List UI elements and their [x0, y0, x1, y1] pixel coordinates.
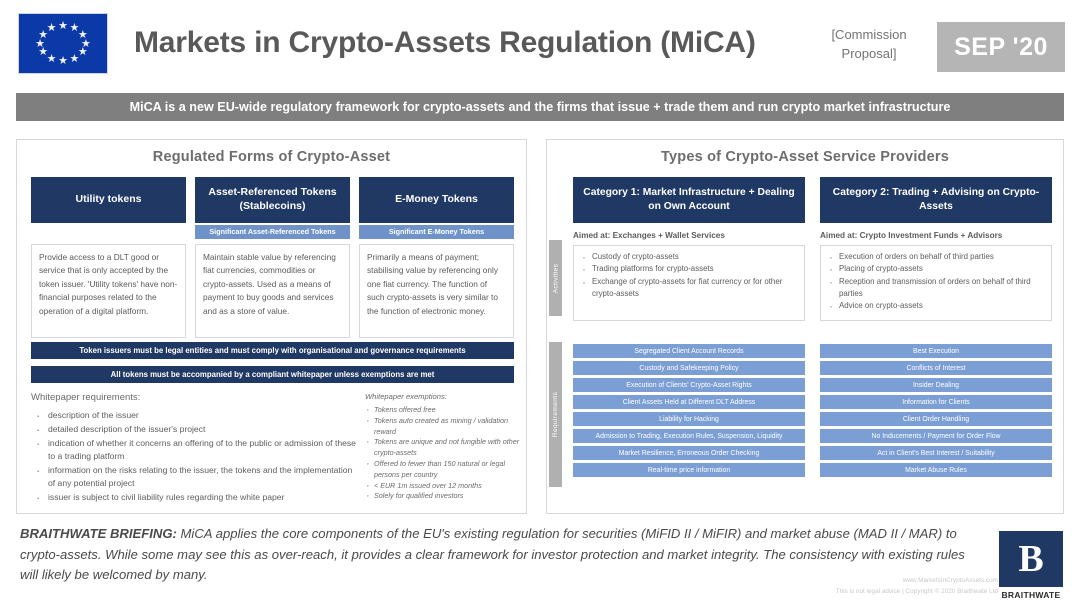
regulated-forms-title: Regulated Forms of Crypto-Asset — [17, 140, 526, 165]
requirement-bar: Best Execution — [820, 344, 1052, 358]
significant-token-badge: Significant Asset-Referenced Tokens — [195, 225, 350, 239]
token-column: Asset-Referenced Tokens (Stablecoins)Sig… — [195, 177, 350, 338]
whitepaper-exemption-item: < EUR 1m issued over 12 months — [365, 481, 520, 492]
service-providers-title: Types of Crypto-Asset Service Providers — [547, 140, 1063, 165]
whitepaper-exemption-item: Solely for qualified investors — [365, 491, 520, 502]
requirement-bar: Client Order Handling — [820, 412, 1052, 426]
requirement-bar: Market Abuse Rules — [820, 463, 1052, 477]
requirements-column-1: Segregated Client Account RecordsCustody… — [573, 344, 805, 480]
category-columns: Category 1: Market Infrastructure + Deal… — [573, 177, 1053, 321]
website-url: www.MarketsInCryptoAssets.com — [836, 576, 998, 587]
date-badge-label: SEP '20 — [954, 33, 1048, 62]
token-description: Provide access to a DLT good or service … — [31, 244, 186, 338]
aimed-at-label: Aimed at: Exchanges + Wallet Services — [573, 231, 805, 240]
whitepaper-exemption-item: Tokens are unique and not fungible with … — [365, 437, 520, 459]
requirement-bar: Information for Clients — [820, 395, 1052, 409]
date-badge: SEP '20 — [937, 22, 1065, 72]
whitepaper-exemption-item: Offered to fewer than 150 natural or leg… — [365, 459, 520, 481]
regulated-forms-panel: Regulated Forms of Crypto-Asset Utility … — [16, 139, 527, 514]
token-columns: Utility tokensProvide access to a DLT go… — [31, 177, 514, 338]
briefing-label: BRAITHWATE BRIEFING: — [20, 526, 177, 541]
token-head: E-Money Tokens — [359, 177, 514, 223]
braithwate-logo: B — [999, 531, 1063, 587]
infographic-page: ★★★★★★★★★★★★ Markets in Crypto-Assets Re… — [0, 0, 1080, 609]
requirement-bar: Execution of Clients' Crypto-Asset Right… — [573, 378, 805, 392]
whitepaper-exemption-item: Tokens auto created as mining / validati… — [365, 416, 520, 438]
activity-item: Placing of crypto-assets — [827, 263, 1045, 275]
summary-banner-text: MiCA is a new EU-wide regulatory framewo… — [130, 100, 951, 114]
token-column: Utility tokensProvide access to a DLT go… — [31, 177, 186, 338]
whitepaper-section: Whitepaper requirements: description of … — [31, 392, 520, 505]
service-providers-panel: Types of Crypto-Asset Service Providers … — [546, 139, 1064, 514]
category-column: Category 2: Trading + Advising on Crypto… — [820, 177, 1052, 321]
requirement-bar: Liability for Hacking — [573, 412, 805, 426]
activity-item: Trading platforms for crypto-assets — [580, 263, 798, 275]
requirement-bar: Insider Dealing — [820, 378, 1052, 392]
requirement-bar: Real-time price information — [573, 463, 805, 477]
requirement-bar: Conflicts of Interest — [820, 361, 1052, 375]
whitepaper-requirement-item: detailed description of the issuer's pro… — [31, 423, 361, 436]
activity-item: Advice on crypto-assets — [827, 300, 1045, 312]
activity-item: Custody of crypto-assets — [580, 251, 798, 263]
requirement-bar: Admission to Trading, Execution Rules, S… — [573, 429, 805, 443]
whitepaper-requirements-list: description of the issuerdetailed descri… — [31, 409, 361, 504]
requirement-bar: Market Resilience, Erroneous Order Check… — [573, 446, 805, 460]
aimed-at-label: Aimed at: Crypto Investment Funds + Advi… — [820, 231, 1052, 240]
requirement-bar: Client Assets Held at Different DLT Addr… — [573, 395, 805, 409]
category-column: Category 1: Market Infrastructure + Deal… — [573, 177, 805, 321]
category-head: Category 1: Market Infrastructure + Deal… — [573, 177, 805, 223]
whitepaper-requirements-heading: Whitepaper requirements: — [31, 392, 361, 403]
eu-flag-icon: ★★★★★★★★★★★★ — [18, 13, 108, 74]
badge-spacer — [31, 223, 186, 239]
side-label-activities: Activities — [549, 240, 562, 316]
requirement-bar: Custody and Safekeeping Policy — [573, 361, 805, 375]
activity-item: Reception and transmission of orders on … — [827, 276, 1045, 301]
header: ★★★★★★★★★★★★ Markets in Crypto-Assets Re… — [0, 0, 1080, 88]
whitepaper-exemption-item: Tokens offered free — [365, 405, 520, 416]
requirement-bar: Act in Client's Best Interest / Suitabil… — [820, 446, 1052, 460]
summary-banner: MiCA is a new EU-wide regulatory framewo… — [16, 93, 1064, 121]
rule-bar-token-issuers: Token issuers must be legal entities and… — [31, 342, 514, 359]
activities-list: Execution of orders on behalf of third p… — [827, 251, 1045, 312]
fineprint: www.MarketsInCryptoAssets.com This is no… — [836, 576, 998, 598]
page-title: Markets in Crypto-Assets Regulation (MiC… — [134, 26, 756, 60]
side-label-requirements: Requirements — [549, 342, 562, 487]
token-head: Asset-Referenced Tokens (Stablecoins) — [195, 177, 350, 223]
whitepaper-requirement-item: description of the issuer — [31, 409, 361, 422]
whitepaper-exemptions-block: Whitepaper exemptions: Tokens offered fr… — [361, 392, 520, 505]
whitepaper-requirements-block: Whitepaper requirements: description of … — [31, 392, 361, 505]
braithwate-logo-name: BRAITHWATE — [995, 590, 1067, 600]
token-head: Utility tokens — [31, 177, 186, 223]
rule-bar-whitepaper: All tokens must be accompanied by a comp… — [31, 366, 514, 383]
activity-item: Execution of orders on behalf of third p… — [827, 251, 1045, 263]
commission-proposal-note: [Commission Proposal] — [813, 26, 925, 64]
eu-flag-stars: ★★★★★★★★★★★★ — [19, 14, 107, 73]
activity-item: Exchange of crypto-assets for fiat curre… — [580, 276, 798, 301]
token-description: Maintain stable value by referencing fia… — [195, 244, 350, 338]
requirement-bar: Segregated Client Account Records — [573, 344, 805, 358]
whitepaper-requirement-item: indication of whether it concerns an off… — [31, 437, 361, 463]
significant-token-badge: Significant E-Money Tokens — [359, 225, 514, 239]
whitepaper-exemptions-list: Tokens offered freeTokens auto created a… — [365, 405, 520, 502]
whitepaper-requirement-item: issuer is subject to civil liability rul… — [31, 491, 361, 504]
activities-box: Custody of crypto-assetsTrading platform… — [573, 245, 805, 321]
legal-notice: This is not legal advice | Copyright © 2… — [836, 587, 998, 598]
token-description: Primarily a means of payment; stabilisin… — [359, 244, 514, 338]
requirement-bar: No Inducements / Payment for Order Flow — [820, 429, 1052, 443]
whitepaper-exemptions-heading: Whitepaper exemptions: — [365, 392, 520, 401]
whitepaper-requirement-item: information on the risks relating to the… — [31, 464, 361, 490]
token-column: E-Money TokensSignificant E-Money Tokens… — [359, 177, 514, 338]
braithwate-logo-letter: B — [1018, 540, 1043, 578]
activities-box: Execution of orders on behalf of third p… — [820, 245, 1052, 321]
category-head: Category 2: Trading + Advising on Crypto… — [820, 177, 1052, 223]
activities-list: Custody of crypto-assetsTrading platform… — [580, 251, 798, 300]
requirements-column-2: Best ExecutionConflicts of InterestInsid… — [820, 344, 1052, 480]
